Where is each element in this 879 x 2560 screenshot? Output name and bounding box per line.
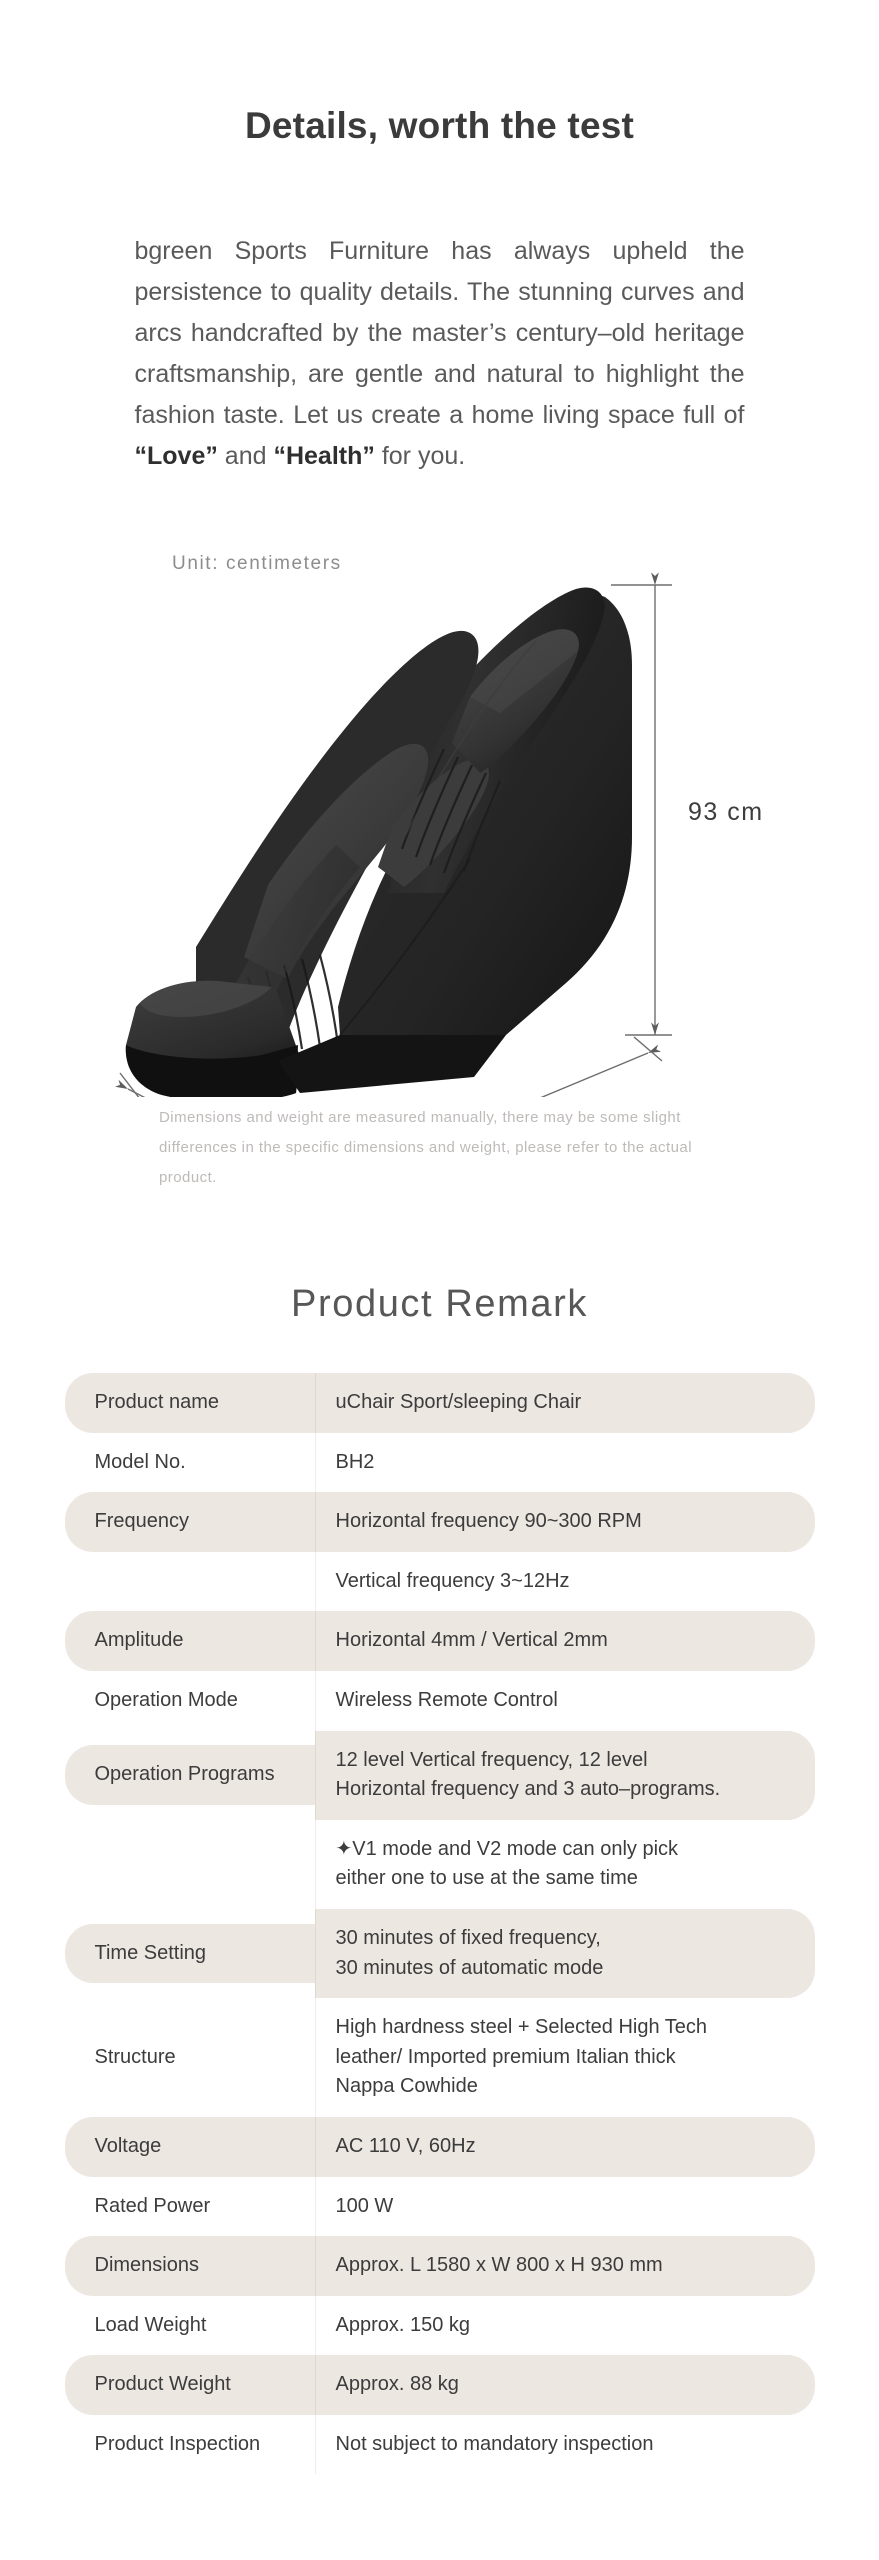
spec-value-label: High hardness steel + Selected High Tech… [315,1998,815,2117]
spec-key-label: Amplitude [65,1611,315,1671]
spec-value-cell: Vertical frequency 3~12Hz [315,1552,815,1612]
product-detail-page: Details, worth the test bgreen Sports Fu… [0,0,879,2560]
spec-key-label: Operation Mode [65,1671,315,1731]
intro-paragraph: bgreen Sports Furniture has always uphel… [135,231,745,477]
spec-value-label: Horizontal 4mm / Vertical 2mm [315,1611,815,1671]
spec-key-cell: Load Weight [65,2296,315,2356]
product-remark-title: Product Remark [0,1193,879,1326]
spec-key-cell: Product name [65,1373,315,1433]
spec-key-label: Voltage [65,2117,315,2177]
spec-key-label: Model No. [65,1433,315,1493]
product-spec-table: Product nameuChair Sport/sleeping ChairM… [65,1373,815,2474]
spec-value-label: Wireless Remote Control [315,1671,815,1731]
spec-key-cell: Operation Mode [65,1671,315,1731]
spec-value-cell: 100 W [315,2177,815,2237]
spec-value-label: Approx. 88 kg [315,2355,815,2415]
spec-value-cell: Approx. 88 kg [315,2355,815,2415]
table-row: Load WeightApprox. 150 kg [65,2296,815,2356]
spec-value-cell: Horizontal frequency 90~300 RPM [315,1492,815,1552]
table-row: Product nameuChair Sport/sleeping Chair [65,1373,815,1433]
intro-text-2: and [218,442,274,470]
spec-key-label: Product Weight [65,2355,315,2415]
spec-value-label: Vertical frequency 3~12Hz [315,1552,815,1612]
table-row: Model No.BH2 [65,1433,815,1493]
spec-value-label: Approx. 150 kg [315,2296,815,2356]
spec-key-cell: Model No. [65,1433,315,1493]
spec-value-label: 12 level Vertical frequency, 12 level Ho… [315,1731,815,1820]
table-row: VoltageAC 110 V, 60Hz [65,2117,815,2177]
spec-key-cell: Frequency [65,1492,315,1552]
table-row: Rated Power100 W [65,2177,815,2237]
spec-key-cell: Voltage [65,2117,315,2177]
spec-key-cell: Time Setting [65,1909,315,1998]
spec-value-label: AC 110 V, 60Hz [315,2117,815,2177]
spec-key-label: Load Weight [65,2296,315,2356]
table-row: ✦V1 mode and V2 mode can only pick eithe… [65,1820,815,1909]
table-row: Vertical frequency 3~12Hz [65,1552,815,1612]
chair-illustration [126,587,632,1097]
table-row: Product InspectionNot subject to mandato… [65,2415,815,2475]
spec-value-label: 30 minutes of fixed frequency, 30 minute… [315,1909,815,1998]
spec-value-cell: High hardness steel + Selected High Tech… [315,1998,815,2117]
height-dimension-label: 93 cm [688,798,764,826]
spec-value-label: Horizontal frequency 90~300 RPM [315,1492,815,1552]
spec-key-cell: Product Inspection [65,2415,315,2475]
table-row: Operation ModeWireless Remote Control [65,1671,815,1731]
spec-value-cell: uChair Sport/sleeping Chair [315,1373,815,1433]
spec-value-label: 100 W [315,2177,815,2237]
spec-value-label: BH2 [315,1433,815,1493]
table-row: Operation Programs12 level Vertical freq… [65,1731,815,1820]
table-row: DimensionsApprox. L 1580 x W 800 x H 930… [65,2236,815,2296]
spec-key-cell: Rated Power [65,2177,315,2237]
spec-key-label: Frequency [65,1492,315,1552]
table-row: AmplitudeHorizontal 4mm / Vertical 2mm [65,1611,815,1671]
spec-key-label: Product name [65,1373,315,1433]
measurement-disclaimer: Dimensions and weight are measured manua… [147,1103,732,1193]
spec-value-label: Approx. L 1580 x W 800 x H 930 mm [315,2236,815,2296]
spec-key-label [65,1836,315,1892]
intro-emphasis-1: “Love” [135,442,218,470]
page-title: Details, worth the test [0,0,879,147]
spec-key-cell [65,1552,315,1612]
spec-key-label: Dimensions [65,2236,315,2296]
chair-dimension-drawing: 93 cm 158 cm 80 cm [0,537,879,1097]
spec-value-cell: Horizontal 4mm / Vertical 2mm [315,1611,815,1671]
spec-value-label: Not subject to mandatory inspection [315,2415,815,2475]
spec-key-cell: Structure [65,1998,315,2117]
table-row: StructureHigh hardness steel + Selected … [65,1998,815,2117]
spec-value-cell: ✦V1 mode and V2 mode can only pick eithe… [315,1820,815,1909]
spec-key-label: Product Inspection [65,2415,315,2475]
spec-table-body: Product nameuChair Sport/sleeping ChairM… [65,1373,815,2474]
spec-key-cell [65,1820,315,1909]
spec-key-label: Time Setting [65,1924,315,1984]
dimension-diagram: Unit: centimeters [0,537,879,1097]
spec-value-cell: Approx. L 1580 x W 800 x H 930 mm [315,2236,815,2296]
spec-value-label: ✦V1 mode and V2 mode can only pick eithe… [315,1820,815,1909]
intro-text-0: bgreen Sports Furniture has always uphel… [135,237,745,429]
spec-value-cell: AC 110 V, 60Hz [315,2117,815,2177]
spec-key-label [65,1554,315,1610]
spec-value-cell: 12 level Vertical frequency, 12 level Ho… [315,1731,815,1820]
intro-text-4: for you. [375,442,465,470]
spec-key-cell: Dimensions [65,2236,315,2296]
spec-key-cell: Amplitude [65,1611,315,1671]
spec-key-cell: Operation Programs [65,1731,315,1820]
intro-emphasis-3: “Health” [273,442,374,470]
spec-value-cell: 30 minutes of fixed frequency, 30 minute… [315,1909,815,1998]
table-row: FrequencyHorizontal frequency 90~300 RPM [65,1492,815,1552]
spec-value-cell: Not subject to mandatory inspection [315,2415,815,2475]
spec-key-label: Structure [65,2028,315,2088]
spec-key-label: Operation Programs [65,1745,315,1805]
spec-key-cell: Product Weight [65,2355,315,2415]
table-row: Product WeightApprox. 88 kg [65,2355,815,2415]
spec-key-label: Rated Power [65,2177,315,2237]
spec-value-cell: Approx. 150 kg [315,2296,815,2356]
table-row: Time Setting30 minutes of fixed frequenc… [65,1909,815,1998]
spec-value-cell: BH2 [315,1433,815,1493]
spec-value-label: uChair Sport/sleeping Chair [315,1373,815,1433]
spec-value-cell: Wireless Remote Control [315,1671,815,1731]
